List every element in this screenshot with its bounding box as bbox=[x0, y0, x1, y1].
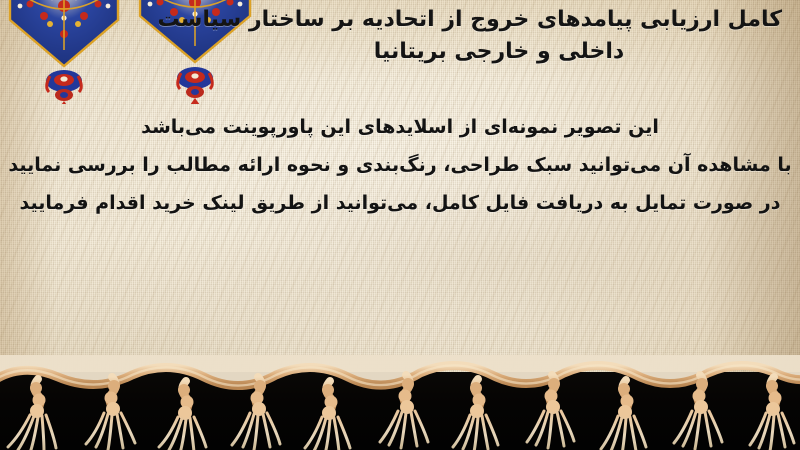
ornament-left-pendant bbox=[46, 70, 82, 104]
tassel-cords bbox=[0, 355, 800, 450]
body-line-2: با مشاهده آن می‌توانید سبک طراحی، رنگ‌بن… bbox=[0, 146, 800, 184]
tassel-svg bbox=[0, 355, 800, 450]
title-line-1: کامل ارزیابی پیامدهای خروج از اتحادیه بر… bbox=[216, 4, 782, 36]
slide-canvas: کامل ارزیابی پیامدهای خروج از اتحادیه بر… bbox=[0, 0, 800, 450]
slide-body: این تصویر نمونه‌ای از اسلایدهای این پاور… bbox=[0, 108, 800, 222]
ornament-left bbox=[10, 0, 118, 104]
fringe-border bbox=[0, 355, 800, 450]
title-line-2: داخلی و خارجی بریتانیا bbox=[216, 36, 782, 68]
ornament-right-pendant bbox=[177, 67, 213, 104]
body-line-1: این تصویر نمونه‌ای از اسلایدهای این پاور… bbox=[0, 108, 800, 146]
slide-title: کامل ارزیابی پیامدهای خروج از اتحادیه بر… bbox=[216, 4, 782, 68]
body-line-3: در صورت تمایل به دریافت فایل کامل، می‌تو… bbox=[0, 184, 800, 222]
